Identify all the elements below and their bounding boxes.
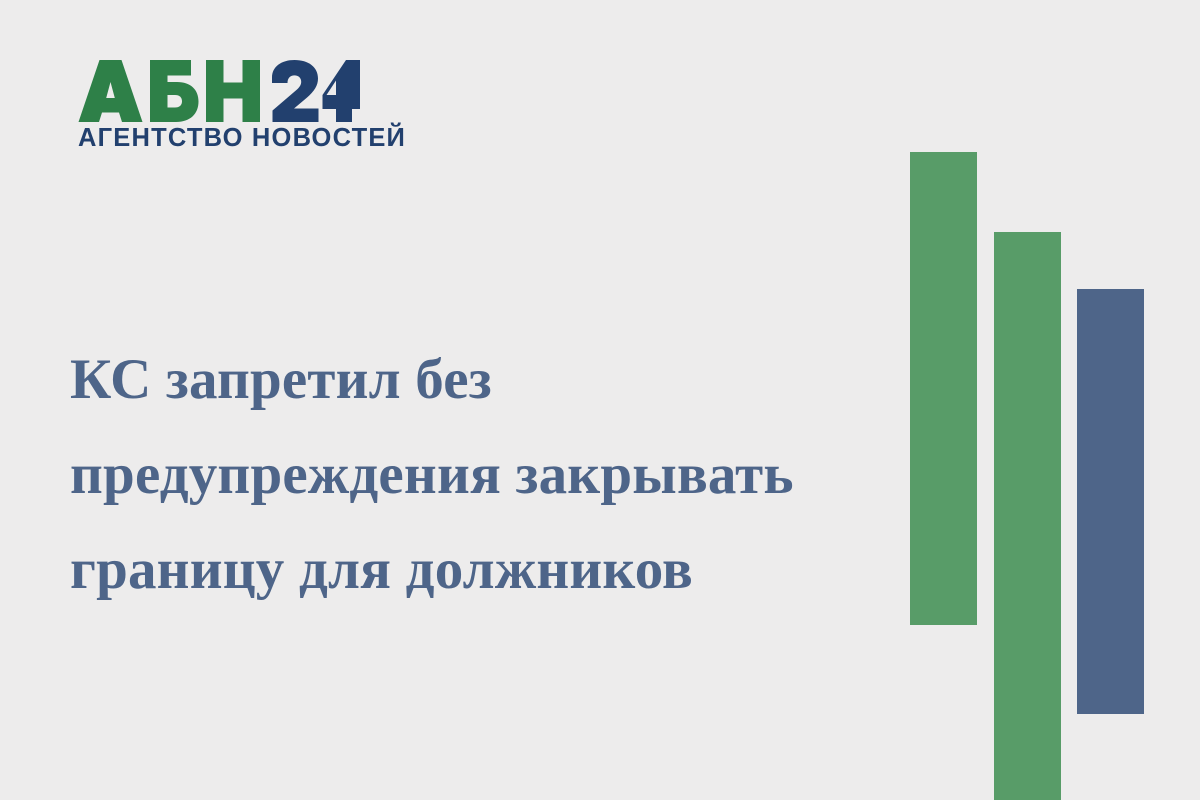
decorative-bar-2: [994, 232, 1061, 800]
headline-text: КС запретил без предупреждения закрывать…: [70, 332, 870, 617]
news-card: АГЕНТСТВО НОВОСТЕЙ КС запретил без преду…: [0, 0, 1200, 800]
logo-tagline: АГЕНТСТВО НОВОСТЕЙ: [78, 126, 368, 152]
decorative-bar-3: [1077, 289, 1144, 714]
decorative-bar-1: [910, 152, 977, 625]
brand-logo[interactable]: АГЕНТСТВО НОВОСТЕЙ: [78, 60, 368, 152]
abn24-logotype-icon: [78, 60, 360, 122]
